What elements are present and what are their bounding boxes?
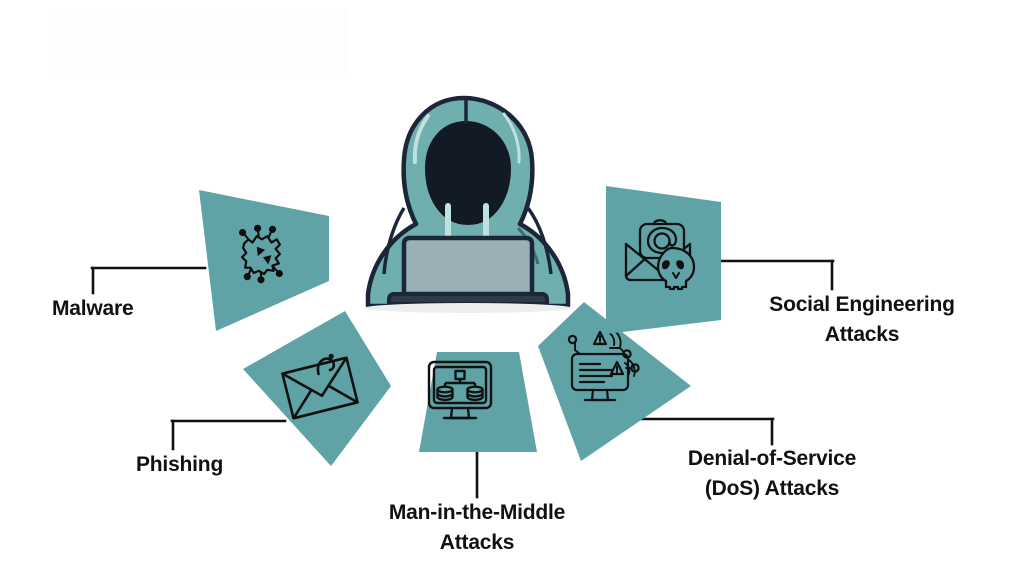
label-social: Social Engineering Attacks [752,290,972,350]
hooded-hacker-figure [364,98,572,313]
label-social-line1: Social Engineering [752,290,972,320]
label-phishing: Phishing [136,450,223,480]
node-shape-phishing[interactable] [243,311,391,466]
label-dos: Denial-of-Service (DoS) Attacks [672,444,872,504]
label-mitm-line2: Attacks [368,528,586,558]
node-shape-mitm[interactable] [419,352,537,452]
infographic-canvas: Malware Phishing Man-in-the-Middle Attac… [0,0,1024,576]
label-malware-line1: Malware [52,294,133,324]
label-social-line2: Attacks [752,320,972,350]
label-malware: Malware [52,294,133,324]
node-shape-social[interactable] [606,186,721,334]
node-shape-malware[interactable] [199,190,329,331]
label-dos-line1: Denial-of-Service [672,444,872,474]
label-mitm-line1: Man-in-the-Middle [368,498,586,528]
label-phishing-line1: Phishing [136,450,223,480]
label-mitm: Man-in-the-Middle Attacks [368,498,586,558]
label-dos-line2: (DoS) Attacks [672,474,872,504]
